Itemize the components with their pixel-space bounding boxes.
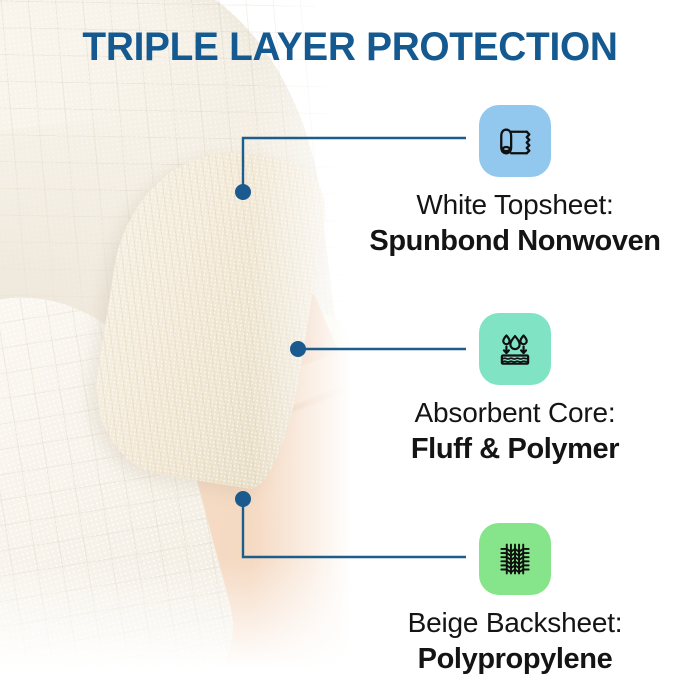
- page-title: TRIPLE LAYER PROTECTION: [11, 24, 690, 70]
- layer-label-core: Absorbent Core:: [330, 396, 700, 430]
- caption-backsheet: Beige Backsheet: Polypropylene: [330, 606, 700, 677]
- badge-backsheet: [479, 523, 551, 595]
- layer-material-backsheet: Polypropylene: [330, 641, 700, 677]
- layer-row-backsheet: Beige Backsheet: Polypropylene: [330, 523, 700, 677]
- layer-label-topsheet: White Topsheet:: [330, 188, 700, 222]
- layer-label-backsheet: Beige Backsheet:: [330, 606, 700, 640]
- caption-core: Absorbent Core: Fluff & Polymer: [330, 396, 700, 467]
- badge-core: [479, 313, 551, 385]
- layer-row-core: Absorbent Core: Fluff & Polymer: [330, 313, 700, 467]
- woven-weave-icon: [494, 538, 536, 580]
- infographic-canvas: TRIPLE LAYER PROTECTION: [0, 0, 700, 700]
- fabric-roll-icon: [494, 120, 536, 162]
- layer-material-topsheet: Spunbond Nonwoven: [330, 223, 700, 259]
- layer-material-core: Fluff & Polymer: [330, 431, 700, 467]
- water-absorption-icon: [494, 328, 536, 370]
- caption-topsheet: White Topsheet: Spunbond Nonwoven: [330, 188, 700, 259]
- leader-dot-backsheet: [235, 491, 251, 507]
- layer-row-topsheet: White Topsheet: Spunbond Nonwoven: [330, 105, 700, 259]
- leader-dot-core: [290, 341, 306, 357]
- badge-topsheet: [479, 105, 551, 177]
- leader-dot-topsheet: [235, 184, 251, 200]
